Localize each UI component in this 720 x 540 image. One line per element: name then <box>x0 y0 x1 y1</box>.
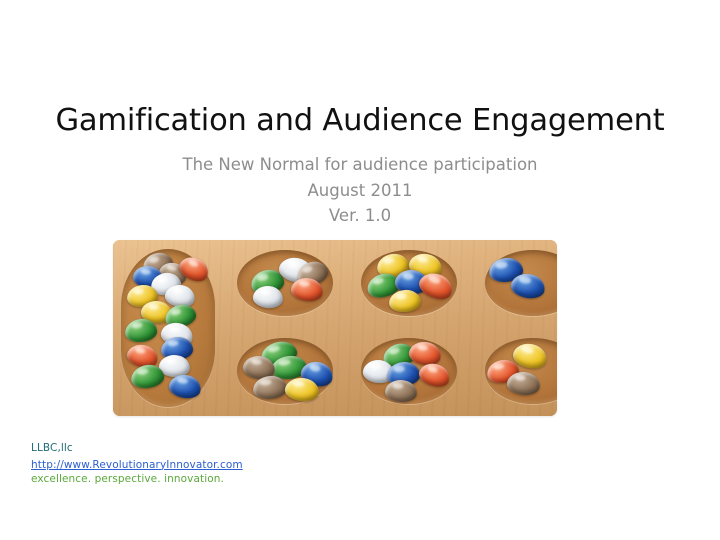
mancala-board-photo <box>113 240 557 416</box>
board-store-pit <box>121 249 215 407</box>
subtitle-line-date: August 2011 <box>0 178 720 204</box>
company-name: LLBC,llc <box>31 441 351 456</box>
board-pit <box>361 250 457 316</box>
subtitle-line-version: Ver. 1.0 <box>0 203 720 229</box>
company-website-link[interactable]: http://www.RevolutionaryInnovator.com <box>31 458 243 473</box>
board-pit <box>237 250 333 316</box>
branding-footer: LLBC,llc http://www.RevolutionaryInnovat… <box>31 441 351 487</box>
subtitle-line-tagline: The New Normal for audience participatio… <box>0 152 720 178</box>
subtitle-block: The New Normal for audience participatio… <box>0 152 720 229</box>
title-slide: Gamification and Audience Engagement The… <box>0 0 720 540</box>
company-tagline: excellence. perspective. innovation. <box>31 472 351 487</box>
board-pit <box>237 338 333 404</box>
page-title: Gamification and Audience Engagement <box>0 103 720 138</box>
board-pit <box>361 338 457 404</box>
